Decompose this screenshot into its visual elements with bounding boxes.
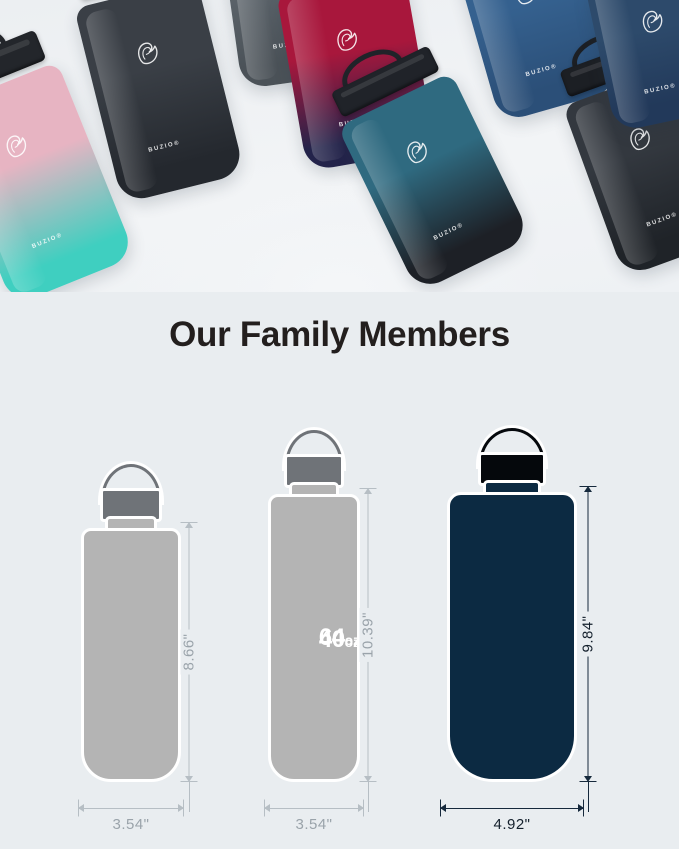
- arrowhead-up-icon: [584, 486, 592, 492]
- hero-product-photo: BUZIO®BUZIO®BUZIO®BUZIO®BUZIO®BUZIO®BUZI…: [0, 0, 679, 292]
- conch-shell-icon: [631, 2, 671, 42]
- width-value: 4.92": [493, 816, 530, 833]
- dimension-line: [440, 808, 584, 809]
- capacity-number: 64: [319, 624, 345, 651]
- extension-leader: [588, 782, 589, 812]
- height-dimension: 9.84": [578, 486, 598, 782]
- capacity-unit: oz: [345, 632, 360, 648]
- page-title: Our Family Members: [0, 315, 679, 355]
- brand-wordmark: BUZIO®: [644, 83, 677, 96]
- height-value: 9.84": [580, 611, 597, 656]
- brand-wordmark: BUZIO®: [646, 212, 679, 229]
- size-comparison-diagram: 32oz8.66"3.54"40oz10.39"3.54"64oz9.84"4.…: [0, 430, 679, 849]
- arrowhead-right-icon: [578, 804, 584, 812]
- conch-shell-icon: [327, 20, 366, 59]
- brand-wordmark: BUZIO®: [31, 232, 64, 250]
- arrowhead-down-icon: [584, 776, 592, 782]
- brand-wordmark: BUZIO®: [433, 222, 465, 242]
- brand-wordmark: BUZIO®: [148, 140, 181, 154]
- conch-shell-icon: [126, 33, 167, 74]
- width-dimension: 4.92": [440, 808, 584, 834]
- conch-shell-icon: [0, 124, 38, 168]
- arrowhead-left-icon: [440, 804, 446, 812]
